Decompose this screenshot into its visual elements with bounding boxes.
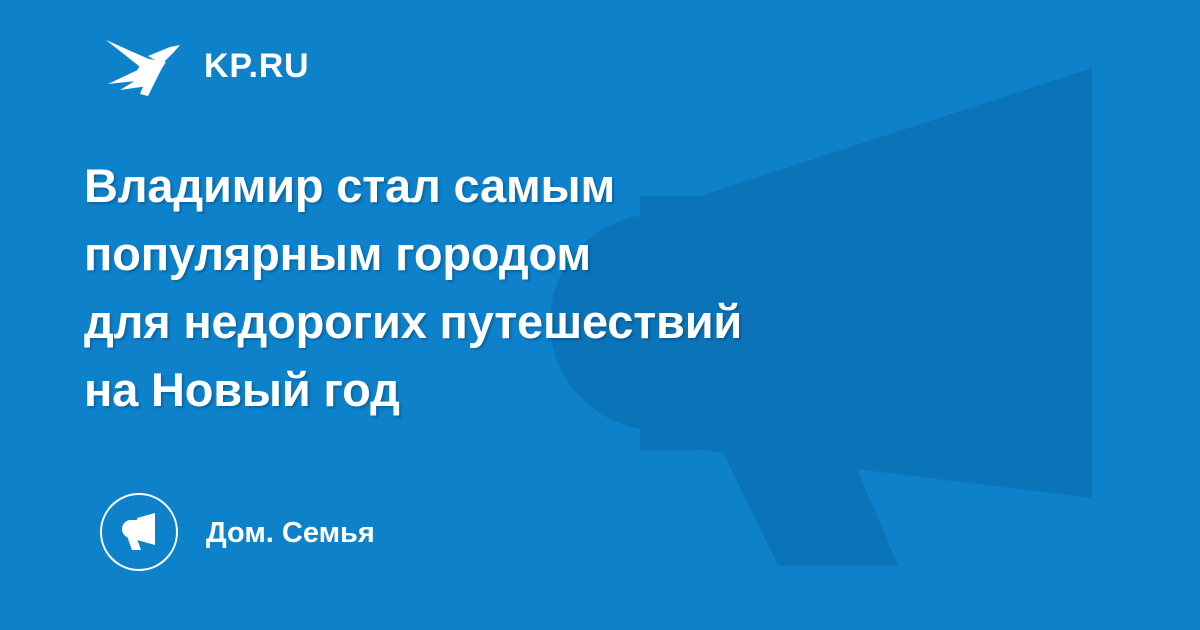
category-badge[interactable]: Дом. Семья — [100, 490, 375, 574]
headline-line-1: Владимир стал самым — [84, 152, 944, 220]
share-card: KP.RU Владимир стал самым популярным гор… — [0, 0, 1200, 630]
brand-name: KP.RU — [204, 49, 309, 83]
category-icon-circle — [100, 493, 178, 571]
brand-logo[interactable]: KP.RU — [104, 32, 309, 98]
headline-line-4: на Новый год — [84, 356, 944, 424]
megaphone-icon — [117, 512, 161, 552]
swallow-bird-icon — [104, 34, 186, 96]
page-title: Владимир стал самым популярным городом д… — [84, 152, 944, 424]
headline-line-3: для недорогих путешествий — [84, 288, 944, 356]
category-label: Дом. Семья — [206, 519, 375, 548]
headline-line-2: популярным городом — [84, 220, 944, 288]
